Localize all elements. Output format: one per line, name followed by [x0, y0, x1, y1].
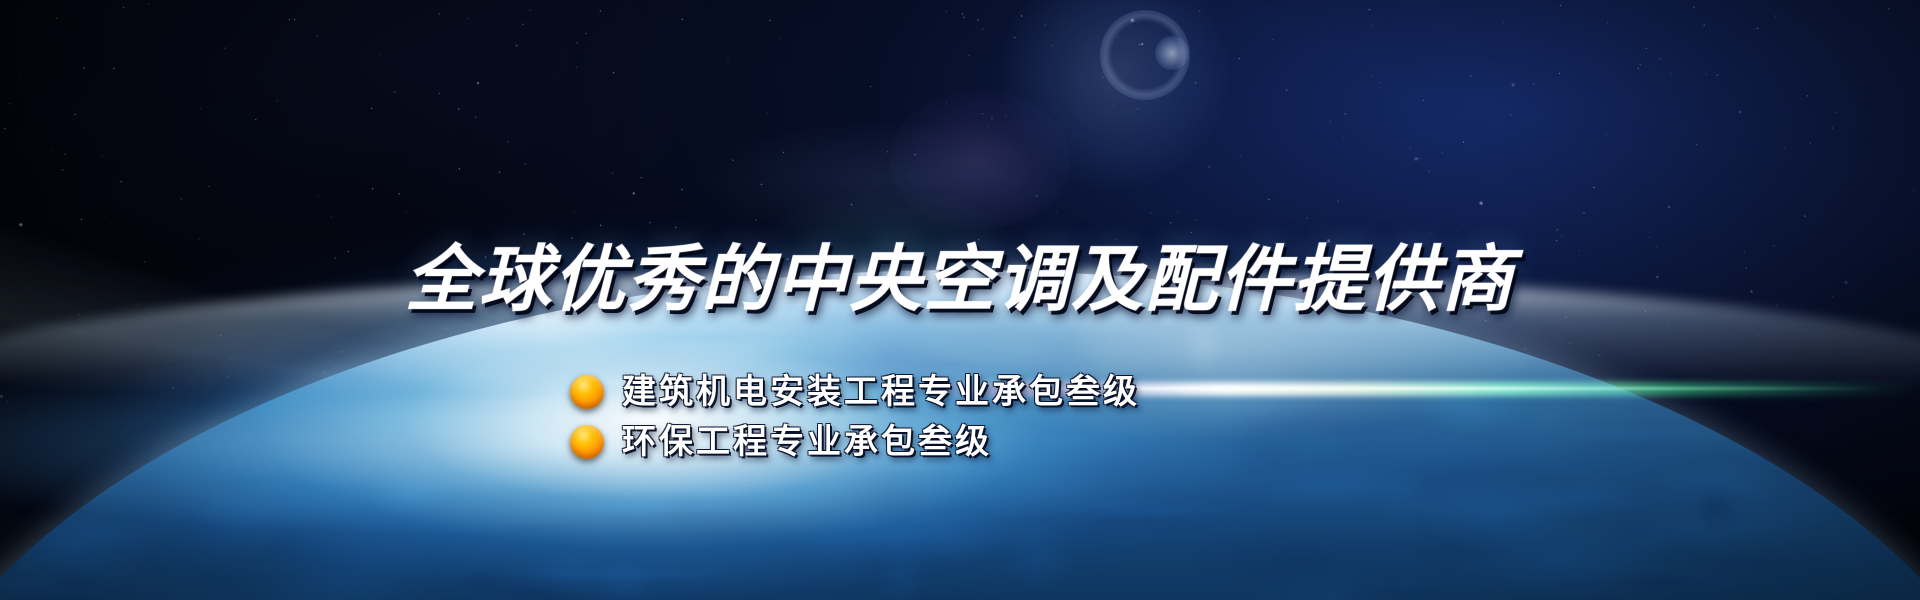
- hero-banner: 全球优秀的中央空调及配件提供商 建筑机电安装工程专业承包叁级 环保工程专业承包叁…: [0, 0, 1920, 600]
- qualification-list: 建筑机电安装工程专业承包叁级 环保工程专业承包叁级: [570, 375, 1140, 459]
- qualification-label: 环保工程专业承包叁级: [622, 425, 992, 459]
- list-item: 环保工程专业承包叁级: [570, 425, 1140, 459]
- bullet-dot-icon: [570, 425, 604, 459]
- list-item: 建筑机电安装工程专业承包叁级: [570, 375, 1140, 409]
- banner-content: 全球优秀的中央空调及配件提供商 建筑机电安装工程专业承包叁级 环保工程专业承包叁…: [0, 0, 1920, 600]
- qualification-label: 建筑机电安装工程专业承包叁级: [622, 375, 1140, 409]
- banner-headline: 全球优秀的中央空调及配件提供商: [0, 244, 1920, 316]
- bullet-dot-icon: [570, 375, 604, 409]
